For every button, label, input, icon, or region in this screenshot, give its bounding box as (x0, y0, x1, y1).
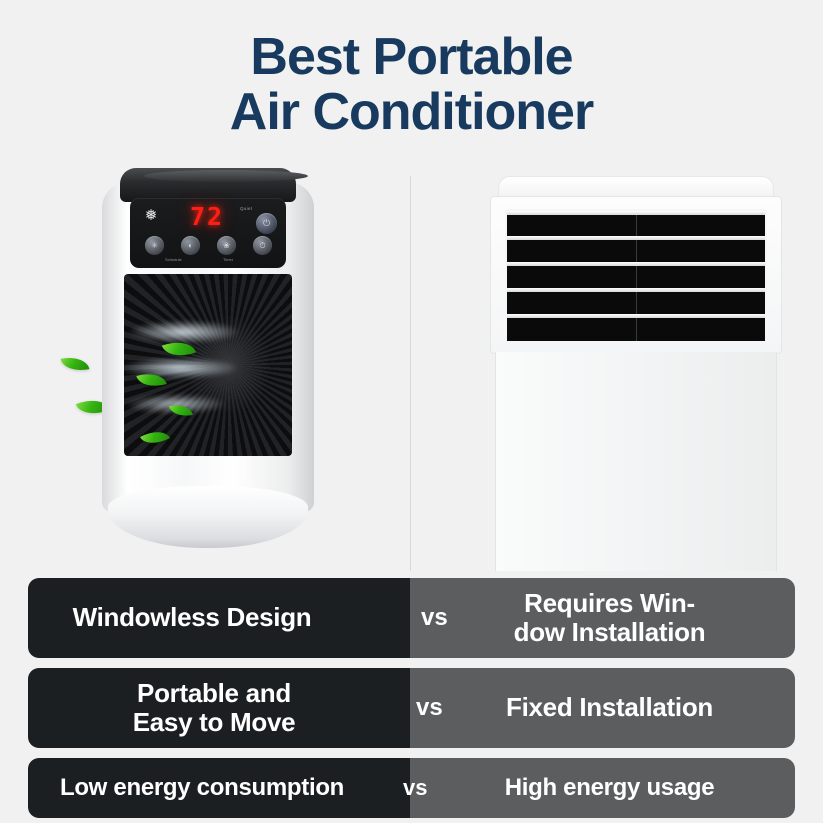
window-ac-body (495, 352, 777, 571)
control-button-2[interactable]: ◐ (181, 236, 200, 255)
grille-slat (507, 236, 765, 240)
comparison-left-cell: Windowless Design (28, 578, 410, 658)
comparison-left-line-1: Portable and (133, 679, 296, 708)
comparison-row: Windowless Design vs Requires Win- dow I… (28, 578, 795, 658)
comparison-right-cell: Fixed Installation (410, 668, 795, 748)
control-button-1[interactable]: ✳ (145, 236, 164, 255)
control-button-row: ✳ ◐ ❀ ⏱ Schedule Timer (139, 236, 277, 255)
window-ac-head (490, 196, 782, 354)
grille-slat (507, 288, 765, 292)
control-button-4[interactable]: ⏱ (253, 236, 272, 255)
comparison-left-text: Portable and Easy to Move (133, 679, 296, 737)
control-label-timer: Timer (223, 257, 233, 262)
grille-slat (507, 262, 765, 266)
title-line-2: Air Conditioner (0, 85, 823, 140)
snowflake-icon: ❅ (141, 207, 161, 225)
vs-label: vs (421, 578, 448, 658)
comparison-right-line-2: dow Installation (514, 618, 706, 647)
window-ac-illustration (490, 176, 780, 571)
grille-slat (507, 314, 765, 318)
comparison-right-text: Requires Win- dow Installation (514, 589, 706, 647)
comparison-right-text: Fixed Installation (506, 693, 713, 722)
comparison-row: Low energy consumption vs High energy us… (28, 758, 795, 818)
control-label-schedule: Schedule (165, 257, 182, 262)
vs-label: vs (416, 668, 443, 748)
unit-base (108, 486, 308, 548)
comparison-left-line-2: Easy to Move (133, 708, 296, 737)
comparison-right-cell: High energy usage (410, 758, 795, 818)
temperature-display: 72 (178, 204, 236, 230)
control-button-3[interactable]: ❀ (217, 236, 236, 255)
unit-top-cap (120, 168, 296, 202)
comparison-left-text: Windowless Design (73, 603, 312, 632)
control-panel[interactable]: ❅ 72 Quiet ⏻ ✳ ◐ ❀ ⏱ Schedule Timer (130, 198, 286, 268)
leaf-icon (140, 425, 170, 450)
power-button[interactable]: ⏻ (256, 213, 277, 234)
fan-airstream (124, 316, 264, 424)
vs-label: vs (403, 758, 427, 818)
vertical-divider (410, 176, 411, 571)
title-line-1: Best Portable (0, 30, 823, 85)
page-title: Best Portable Air Conditioner (0, 30, 823, 140)
comparison-right-text: High energy usage (505, 775, 715, 802)
comparison-left-cell: Portable and Easy to Move (28, 668, 410, 748)
infographic-page: Best Portable Air Conditioner ❅ 72 Quiet… (0, 0, 823, 823)
unit-top-surface (144, 170, 308, 182)
portable-unit-body: ❅ 72 Quiet ⏻ ✳ ◐ ❀ ⏱ Schedule Timer (102, 168, 314, 558)
portable-ac-illustration: ❅ 72 Quiet ⏻ ✳ ◐ ❀ ⏱ Schedule Timer (60, 160, 390, 560)
comparison-row: Portable and Easy to Move vs Fixed Insta… (28, 668, 795, 748)
comparison-right-cell: Requires Win- dow Installation (410, 578, 795, 658)
quiet-mode-label: Quiet (240, 206, 284, 211)
window-ac-grille (505, 209, 767, 343)
fan-grille (124, 274, 292, 456)
comparison-table: Windowless Design vs Requires Win- dow I… (0, 578, 823, 818)
grille-slat (507, 211, 765, 215)
comparison-left-text: Low energy consumption (60, 775, 344, 802)
grille-center-divider (636, 211, 637, 341)
comparison-right-line-1: Requires Win- (514, 589, 706, 618)
comparison-left-cell: Low energy consumption (28, 758, 410, 818)
